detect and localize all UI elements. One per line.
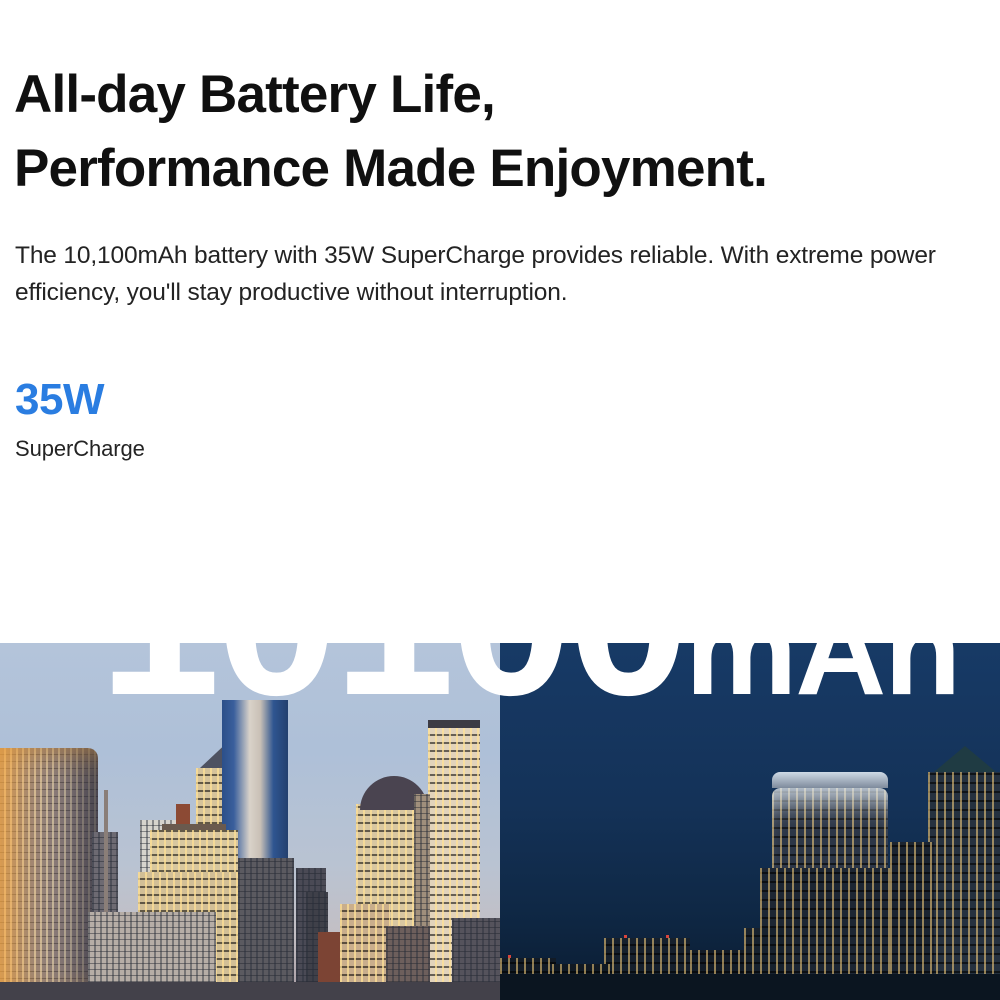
building-left-tower: [0, 748, 98, 1000]
spec-highlight: 35W SuperCharge: [15, 376, 415, 462]
day-foreground-ridge: [0, 982, 500, 1000]
antenna-light-c: [508, 955, 511, 958]
night-foreground-ridge: [500, 974, 1000, 1000]
hero-image-band: [0, 643, 1000, 1000]
spec-value: 35W: [15, 376, 415, 424]
building-grey-midrise: [238, 858, 294, 1000]
building-pale-tall-cap: [428, 720, 480, 728]
page-title: All-day Battery Life, Performance Made E…: [14, 58, 984, 206]
skyline-photo: [0, 643, 1000, 1000]
product-feature-page: All-day Battery Life, Performance Made E…: [0, 0, 1000, 1000]
antenna-light-a: [624, 935, 627, 938]
building-night-right-crown: [934, 746, 996, 772]
building-stepped-roof-cap: [162, 824, 226, 830]
antenna-light-b: [666, 935, 669, 938]
building-night-right-tower: [928, 772, 1000, 1000]
spec-label: SuperCharge: [15, 436, 415, 462]
building-night-lit-tower-crown: [772, 772, 888, 788]
description-paragraph: The 10,100mAh battery with 35W SuperChar…: [15, 237, 945, 311]
